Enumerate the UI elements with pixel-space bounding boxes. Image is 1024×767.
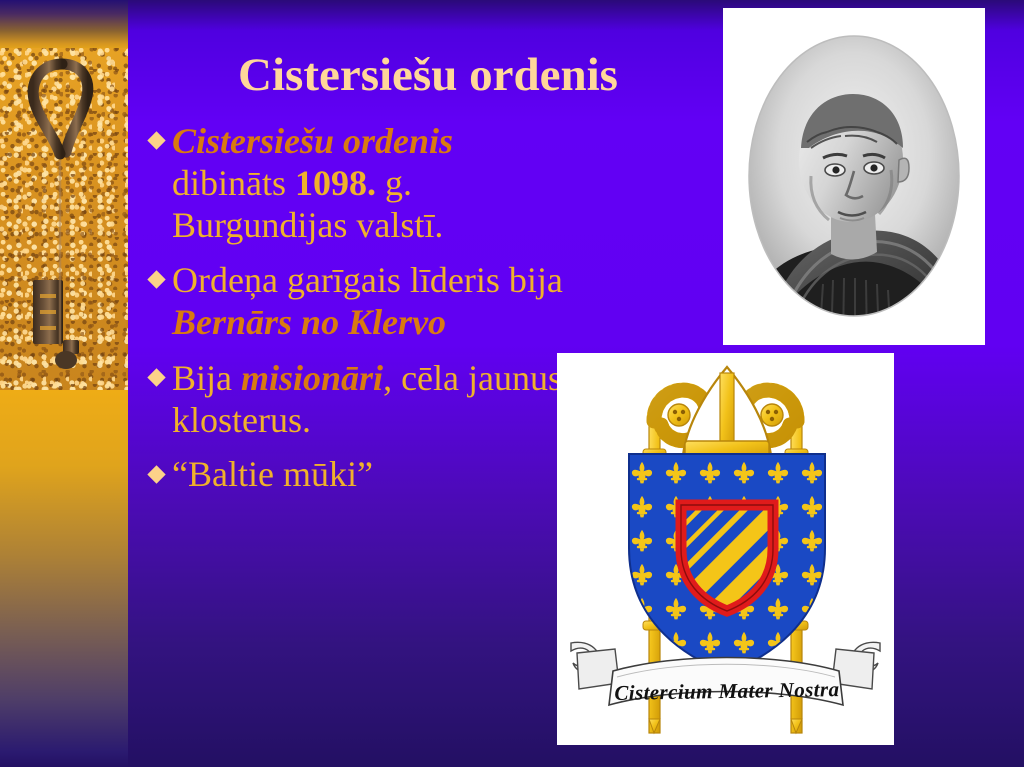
key-photo [0, 48, 128, 391]
bullet-3-part-0: Bija [172, 358, 241, 398]
bullet-1-part-1: dibināts [172, 163, 295, 203]
slide: Cistersiešu ordenis Cistersiešu ordenis … [0, 0, 1024, 767]
diamond-bullet-icon [150, 121, 172, 152]
motto-text: Cistercium Mater Nostra [614, 677, 839, 705]
list-item-text: Cistersiešu ordenis dibināts 1098. g. Bu… [172, 121, 570, 246]
monk-portrait [723, 8, 985, 345]
coat-of-arms-card: Cistercium Mater Nostra [557, 353, 894, 745]
diamond-bullet-icon [150, 358, 172, 389]
bullet-list: Cistersiešu ordenis dibināts 1098. g. Bu… [150, 121, 570, 509]
diamond-bullet-icon [150, 260, 172, 291]
bullet-2-part-0: Ordeņa garīgais līderis bija [172, 260, 563, 300]
list-item: “Baltie mūki” [150, 455, 570, 495]
bullet-1-part-2: 1098. [295, 163, 376, 203]
bullet-1-part-0: Cistersiešu ordenis [172, 121, 453, 161]
list-item: Cistersiešu ordenis dibināts 1098. g. Bu… [150, 121, 570, 246]
bullet-4-part-0: “Baltie mūki” [172, 454, 373, 494]
cistercian-coat-of-arms: Cistercium Mater Nostra [557, 353, 894, 745]
bullet-3-part-1: misionāri [241, 358, 383, 398]
list-item: Bija misionāri, cēla jaunus klosterus. [150, 358, 570, 442]
bullet-2-part-1: Bernārs no Klervo [172, 302, 446, 342]
sidebar-top-gradient [0, 0, 128, 50]
key-icon [0, 48, 128, 391]
slide-title: Cistersiešu ordenis [148, 51, 708, 100]
list-item: Ordeņa garīgais līderis bija Bernārs no … [150, 260, 570, 344]
sidebar-decoration [0, 0, 128, 767]
list-item-text: Ordeņa garīgais līderis bija Bernārs no … [172, 260, 570, 344]
list-item-text: “Baltie mūki” [172, 455, 570, 495]
list-item-text: Bija misionāri, cēla jaunus klosterus. [172, 358, 570, 442]
diamond-bullet-icon [150, 455, 172, 486]
sidebar-bottom-gradient [0, 390, 128, 767]
monk-portrait-card [723, 8, 985, 345]
